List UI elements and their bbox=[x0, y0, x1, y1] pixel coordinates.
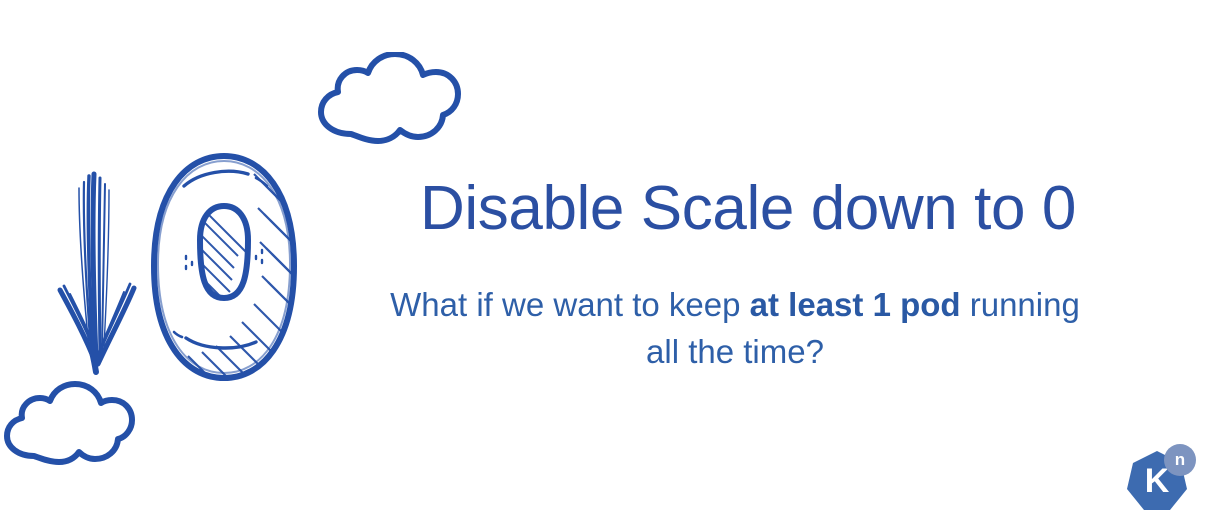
page-title: Disable Scale down to 0 bbox=[340, 176, 1156, 241]
cloud-sketch-top-icon bbox=[315, 52, 463, 152]
knative-logo: K n bbox=[1126, 444, 1206, 522]
zero-digit-sketch-icon bbox=[142, 146, 307, 391]
down-arrow-sketch-icon bbox=[48, 162, 158, 380]
subtitle-emphasis: at least 1 pod bbox=[750, 286, 961, 323]
page-subtitle: What if we want to keep at least 1 pod r… bbox=[335, 282, 1135, 376]
subtitle-line2: all the time? bbox=[646, 333, 824, 370]
subtitle-line1-before: What if we want to keep bbox=[390, 286, 750, 323]
logo-badge-letter: n bbox=[1164, 444, 1196, 476]
slide-canvas: Disable Scale down to 0 What if we want … bbox=[0, 0, 1212, 525]
cloud-sketch-bottom-icon bbox=[2, 380, 138, 472]
subtitle-line1-after: running bbox=[961, 286, 1080, 323]
